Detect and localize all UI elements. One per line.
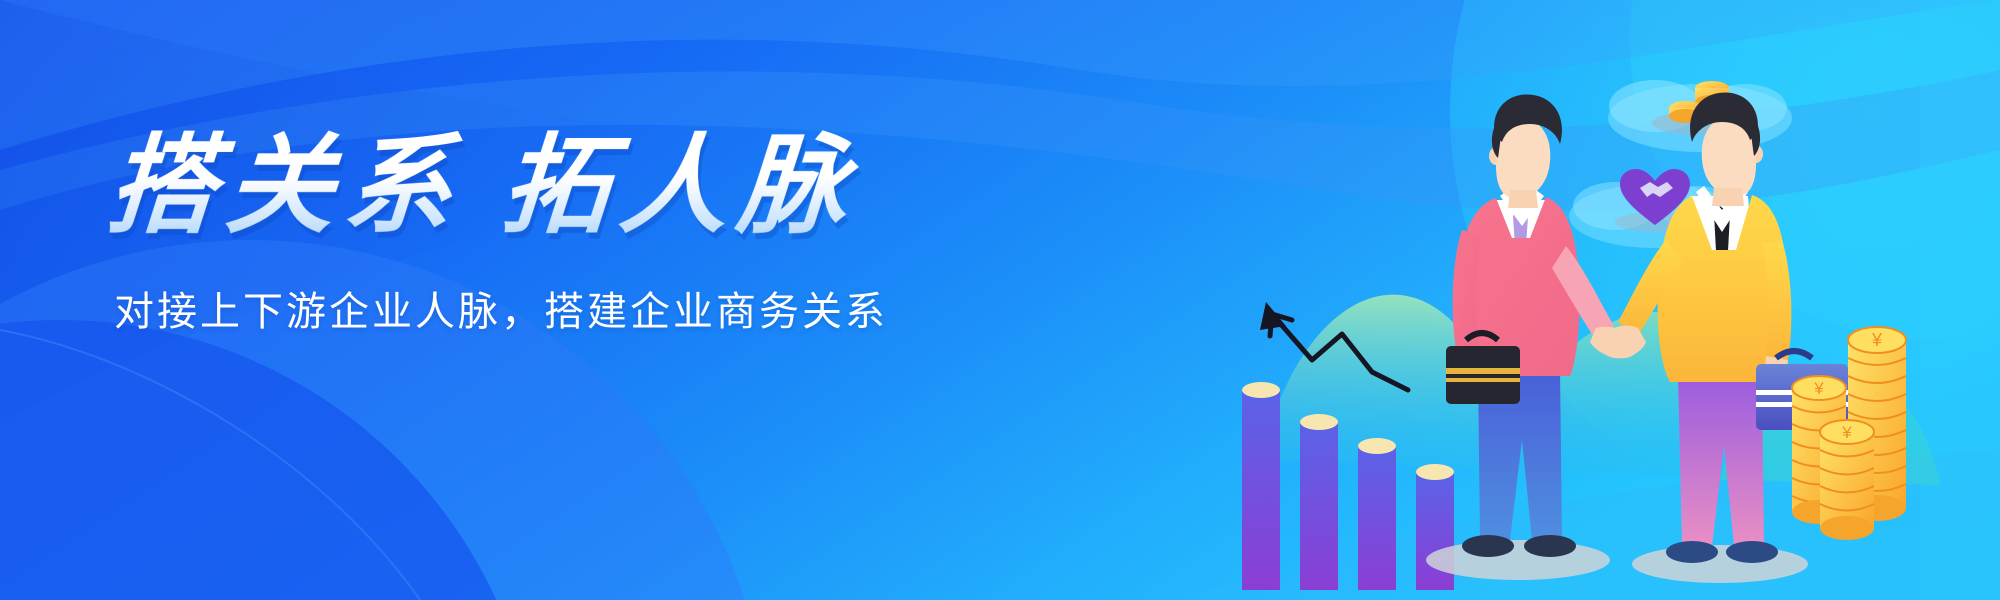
coin-stack-short: ¥ bbox=[1820, 420, 1874, 540]
ground-shadow-right bbox=[1632, 545, 1808, 583]
page-title: 搭关系拓人脉 bbox=[104, 128, 1012, 245]
svg-text:¥: ¥ bbox=[1813, 379, 1824, 398]
right-trousers bbox=[1678, 376, 1764, 546]
headline-part-2: 拓人脉 bbox=[498, 125, 860, 246]
headline-part-1: 搭关系 bbox=[104, 125, 466, 246]
bar-3 bbox=[1358, 438, 1396, 590]
left-shoe-1 bbox=[1462, 535, 1514, 557]
left-neck bbox=[1508, 190, 1538, 208]
left-shoe-2 bbox=[1524, 535, 1576, 557]
svg-text:¥: ¥ bbox=[1871, 330, 1883, 350]
person-left bbox=[1446, 94, 1638, 557]
bar-2 bbox=[1300, 414, 1338, 590]
bar-1 bbox=[1242, 382, 1280, 590]
right-neck bbox=[1712, 188, 1744, 206]
hero-illustration: ¥ ¥ bbox=[1200, 40, 1960, 600]
promo-banner: 搭关系拓人脉 对接上下游企业人脉，搭建企业商务关系 bbox=[0, 0, 2000, 600]
right-shoe-1 bbox=[1666, 541, 1718, 563]
right-shoe-2 bbox=[1726, 541, 1778, 563]
copy-block: 搭关系拓人脉 对接上下游企业人脉，搭建企业商务关系 bbox=[108, 128, 1008, 337]
ground-shadow-left bbox=[1426, 540, 1610, 580]
svg-text:¥: ¥ bbox=[1841, 423, 1852, 442]
page-subtitle: 对接上下游企业人脉，搭建企业商务关系 bbox=[114, 279, 1008, 337]
